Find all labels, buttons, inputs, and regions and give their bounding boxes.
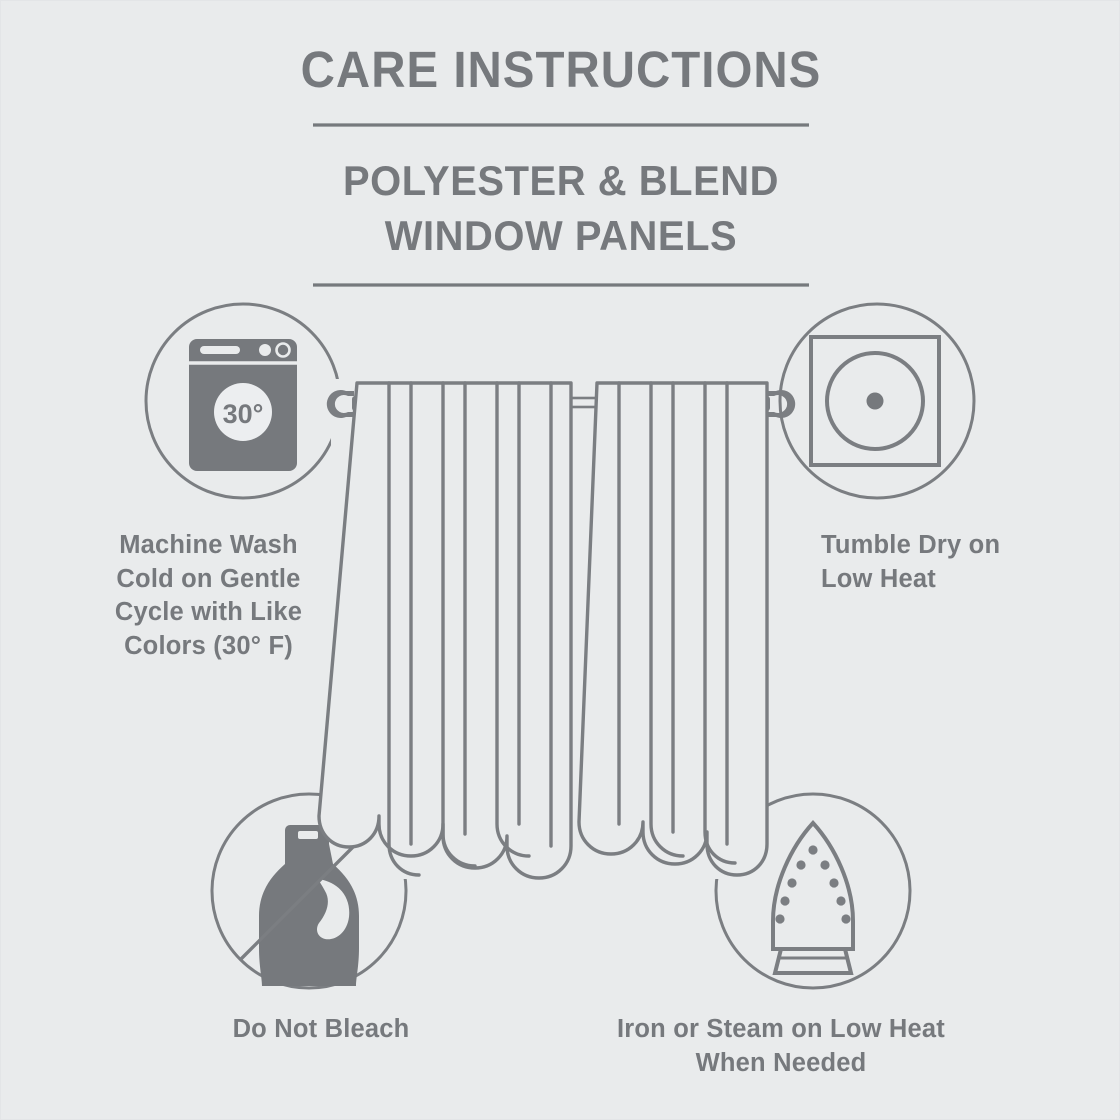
iron-steam-holes xyxy=(775,845,850,923)
infographic-artwork: 30° xyxy=(1,1,1120,1120)
tumble-dry-icon xyxy=(811,337,939,465)
iron-icon xyxy=(773,823,853,973)
curtain-panel-left xyxy=(319,383,571,878)
washing-machine-icon: 30° xyxy=(189,339,297,471)
bleach-bottle-icon xyxy=(259,825,359,986)
iron-base xyxy=(775,949,851,973)
care-instructions-card: CARE INSTRUCTIONS POLYESTER & BLEND WIND… xyxy=(0,0,1120,1120)
wash-temperature-label: 30° xyxy=(223,399,264,429)
curtain-panel-right xyxy=(579,383,767,875)
iron-soleplate xyxy=(773,823,853,949)
tumble-dry-center-dot xyxy=(867,393,884,410)
